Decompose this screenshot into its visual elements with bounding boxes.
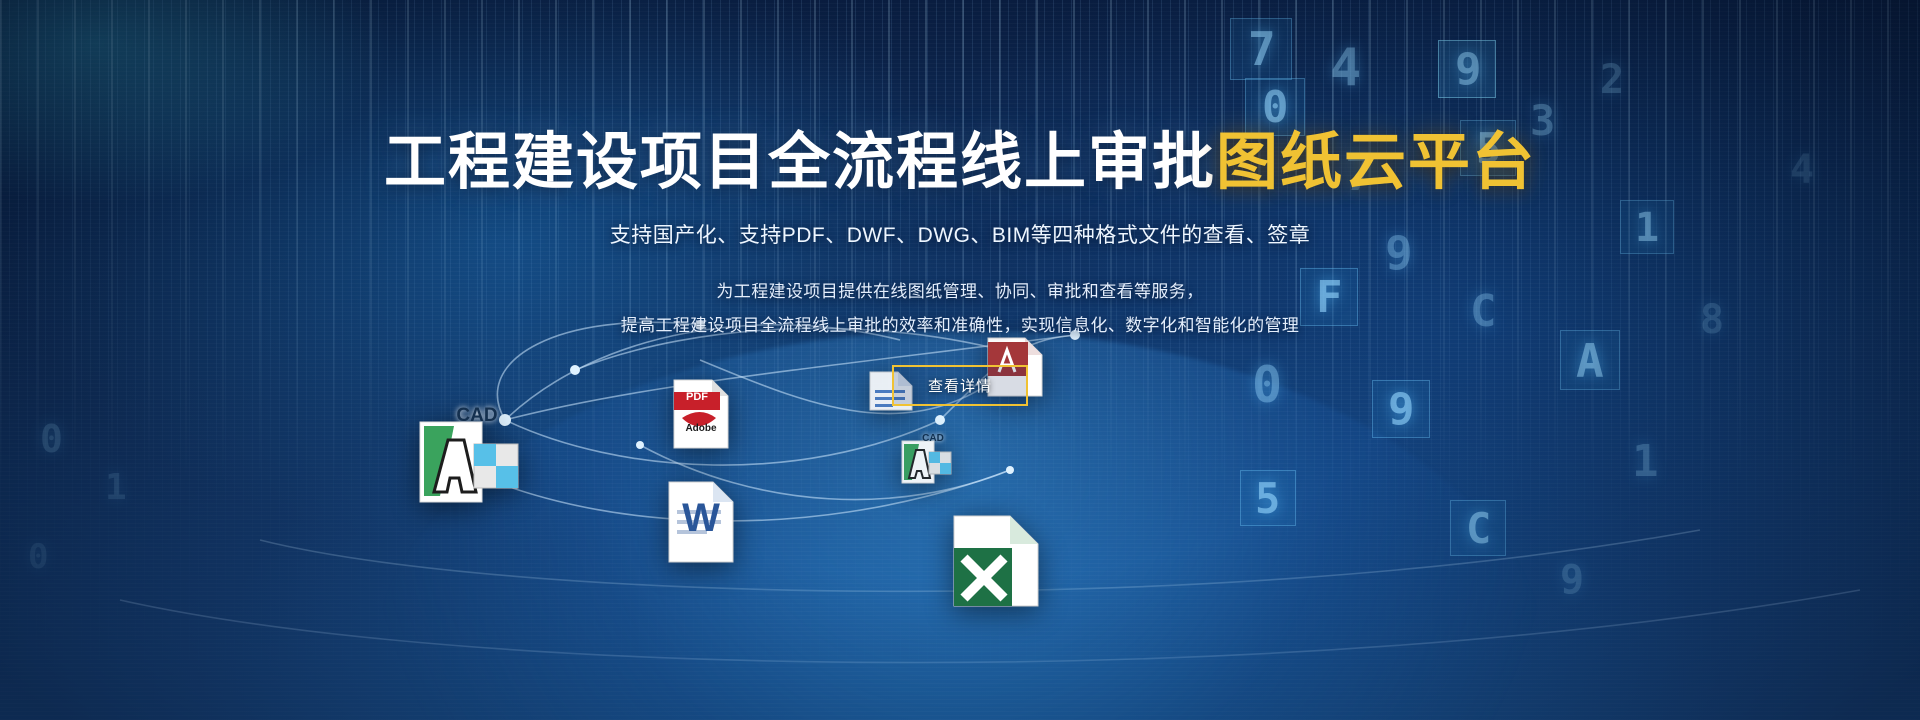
subtitle: 支持国产化、支持PDF、DWF、DWG、BIM等四种格式文件的查看、签章: [0, 219, 1920, 249]
hero-content: 工程建设项目全流程线上审批图纸云平台 支持国产化、支持PDF、DWF、DWG、B…: [0, 0, 1920, 406]
description-line-1: 为工程建设项目提供在线图纸管理、协同、审批和查看等服务，: [0, 275, 1920, 309]
excel-file-icon[interactable]: [948, 512, 1044, 608]
autocad-file-icon[interactable]: CAD: [418, 418, 523, 508]
pdf-file-sublabel: Adobe: [674, 420, 728, 436]
network-node: [636, 441, 644, 449]
hero-banner: 7 9 4 0 3 5 7 2 1 9 F C A 0 9 1 5 C 9 8 …: [0, 0, 1920, 720]
network-node: [1006, 466, 1014, 474]
view-details-button[interactable]: 查看详情: [892, 365, 1028, 406]
cta-wrapper: 查看详情: [0, 365, 1920, 406]
description-line-2: 提高工程建设项目全流程线上审批的效率和准确性，实现信息化、数字化和智能化的管理: [0, 309, 1920, 343]
title-yellow-part: 图纸云平台: [1216, 128, 1536, 197]
title-white-part: 工程建设项目全流程线上审批: [384, 128, 1216, 197]
network-node: [935, 415, 945, 425]
autocad-small-label: CAD: [914, 428, 952, 448]
word-file-icon[interactable]: W: [665, 480, 737, 564]
page-title: 工程建设项目全流程线上审批图纸云平台: [0, 130, 1920, 197]
word-file-label: W: [665, 488, 737, 548]
autocad-file-small-icon[interactable]: CAD: [900, 438, 952, 486]
